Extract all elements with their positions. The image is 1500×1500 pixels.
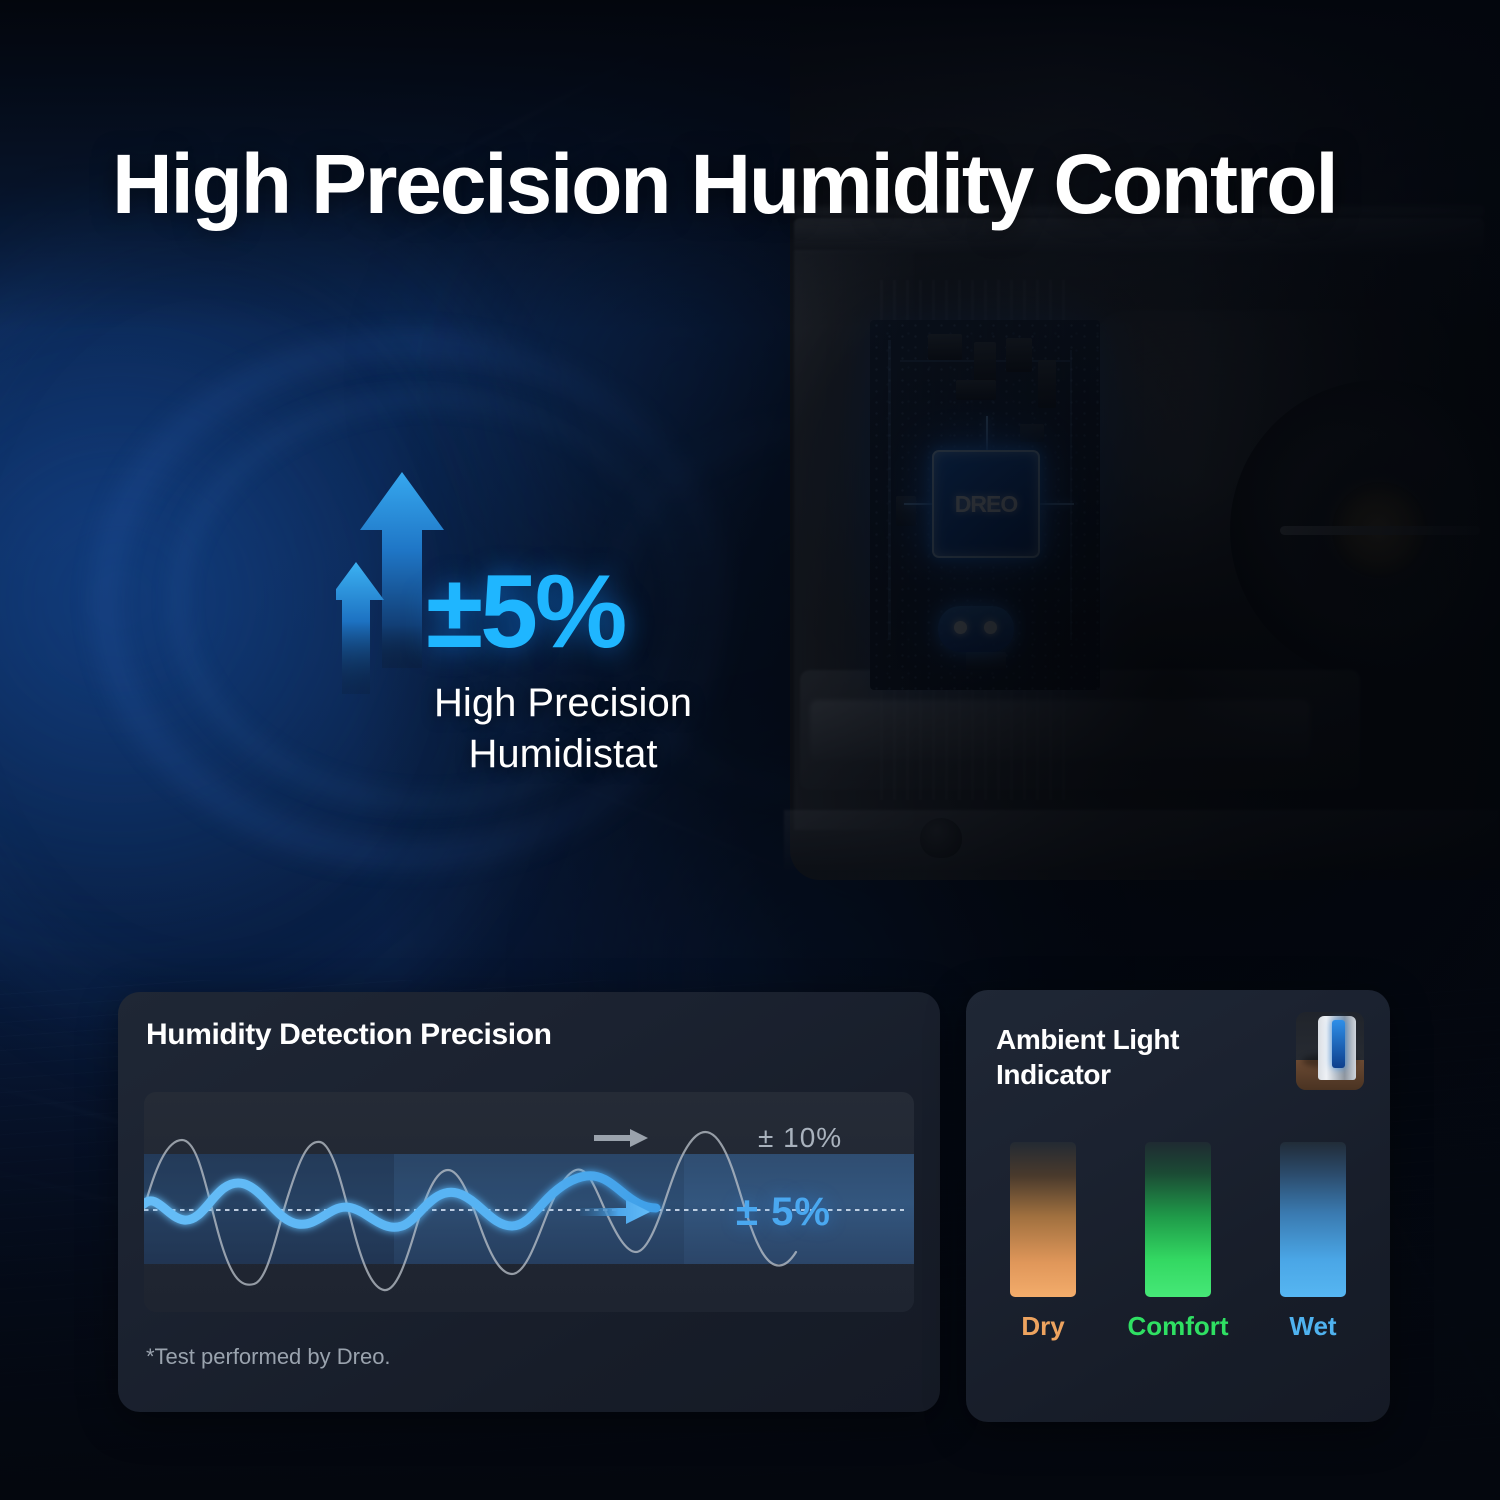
precision-value: ±5% — [426, 560, 624, 664]
precision-caption-line1: High Precision — [398, 678, 728, 729]
precision-caption-line2: Humidistat — [398, 729, 728, 780]
ambient-bar-comfort: Comfort — [1135, 1142, 1221, 1342]
ambient-light-bars: Dry Comfort Wet — [1000, 1142, 1356, 1342]
chart-label-highlight: ± 5% — [736, 1190, 831, 1235]
bar-fill-comfort — [1145, 1142, 1211, 1297]
ambient-light-indicator-card: Ambient Light Indicator Dry Comfort Wet — [966, 990, 1390, 1422]
bar-label-dry: Dry — [1021, 1311, 1064, 1342]
bar-fill-wet — [1280, 1142, 1346, 1297]
product-thumbnail — [1296, 1012, 1364, 1090]
chart-reference-row: ± 10% — [574, 1116, 904, 1160]
arrow-right-icon — [594, 1129, 648, 1147]
page-title: High Precision Humidity Control — [112, 140, 1412, 228]
bar-label-wet: Wet — [1289, 1311, 1336, 1342]
bar-label-comfort: Comfort — [1127, 1311, 1228, 1342]
thumbnail-light-strip — [1332, 1020, 1345, 1068]
chart-label-reference: ± 10% — [758, 1122, 842, 1154]
chart-highlight-row: ± 5% — [574, 1188, 914, 1236]
card-title-ambient: Ambient Light Indicator — [996, 1022, 1246, 1092]
humidity-detection-precision-card: Humidity Detection Precision — [118, 992, 940, 1412]
card-footnote: *Test performed by Dreo. — [146, 1344, 391, 1370]
arrow-right-icon — [580, 1199, 650, 1225]
ambient-bar-wet: Wet — [1270, 1142, 1356, 1342]
precision-caption: High Precision Humidistat — [398, 678, 728, 780]
precision-chart: ± 10% ± 5% — [144, 1092, 914, 1312]
card-title-precision: Humidity Detection Precision — [146, 1018, 552, 1052]
product-feature-graphic: DREO High Precision Humidity Control — [0, 0, 1500, 1500]
bar-fill-dry — [1010, 1142, 1076, 1297]
ambient-bar-dry: Dry — [1000, 1142, 1086, 1342]
